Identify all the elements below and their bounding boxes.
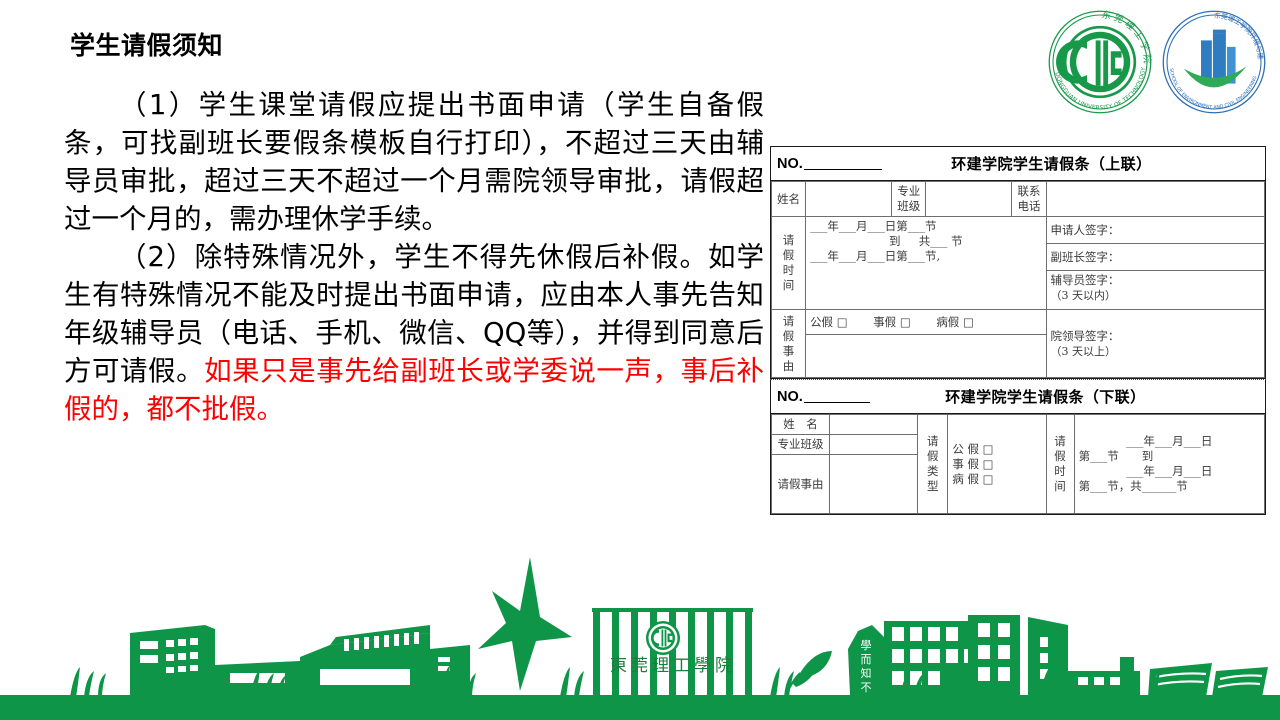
- table-row-leave-reason: 请假事由 公假 □ 事假 □ 病假 □ 院领导签字： （3 天以上）: [772, 310, 1265, 335]
- stone-text-4: 不: [861, 681, 872, 694]
- slip-lower: NO. 环建学院学生请假条（下联） 姓 名 请假类型 公 假 □ 事 假 □: [770, 380, 1266, 515]
- slip-upper-no-blank[interactable]: [804, 157, 882, 170]
- cell-signature-counselor[interactable]: 辅导员签字： （3 天以内）: [1046, 271, 1264, 310]
- cell-lower-type-checkboxes[interactable]: 公 假 □ 事 假 □ 病 假 □: [948, 415, 1046, 514]
- cell-lower-time-fields[interactable]: ___年___月___日 第___节 到 ___年___月___日 第___节，…: [1074, 415, 1264, 514]
- signature-counselor-note: （3 天以内）: [1051, 288, 1260, 303]
- cell-name-label: 姓名: [772, 182, 806, 217]
- notice-paragraph-1: （1）学生课堂请假应提出书面申请（学生自备假条，可找副班长要假条模板自行打印），…: [64, 86, 764, 238]
- leave-time-total: 共___ 节: [919, 234, 963, 248]
- cell-phone-value[interactable]: [1046, 182, 1264, 217]
- slip-upper-no-label: NO.: [777, 156, 803, 172]
- table-row-leave-time: 请假时间 ___年___月___日第___节 到 共___ 节 ___年___月…: [772, 217, 1265, 244]
- cell-leave-reason-content[interactable]: [806, 335, 1046, 378]
- leave-time-line-1: ___年___月___日第___节: [810, 219, 1041, 234]
- lower-time-line-4: 第___节，共______节: [1079, 479, 1260, 494]
- leave-time-line-2: 到 共___ 节: [810, 234, 1041, 249]
- campus-gate: [592, 608, 753, 697]
- logo-group: 东 莞 理 工 学 院 DONGGUAN UNIVERSITY OF TECHN…: [1046, 8, 1268, 116]
- stone-text-3: 知: [861, 666, 872, 680]
- notice-paragraph-2: （2）除特殊情况外，学生不得先休假后补假。如学生有特殊情况不能及时提出书面申请，…: [64, 238, 764, 428]
- lower-leave-type-sick[interactable]: 病 假 □: [952, 472, 1041, 487]
- cell-lower-name-label: 姓 名: [772, 415, 830, 435]
- slip-lower-no-blank[interactable]: [804, 390, 870, 403]
- table-row-lower-name: 姓 名 请假类型 公 假 □ 事 假 □ 病 假 □ 请假时间 ___年___月: [772, 415, 1265, 435]
- lower-leave-type-personal[interactable]: 事 假 □: [952, 457, 1041, 472]
- building-dorm-2: [968, 615, 1020, 697]
- cell-phone-label: 联系电话: [1012, 182, 1046, 217]
- cell-name-value[interactable]: [806, 182, 892, 217]
- lower-time-line-2: 第___节 到: [1079, 449, 1260, 464]
- leave-type-public[interactable]: 公假 □: [810, 315, 848, 329]
- college-logo: 东莞理工学院环境与建筑工程学院 SCHOOL OF ENVIRONMENT AN…: [1160, 8, 1268, 116]
- cell-signature-applicant[interactable]: 申请人签字：: [1046, 217, 1264, 244]
- gate-emblem: [646, 621, 680, 655]
- signature-dean-label: 院领导签字：: [1051, 329, 1260, 344]
- cell-signature-dean[interactable]: 院领导签字： （3 天以上）: [1046, 310, 1264, 378]
- cell-signature-vice-monitor[interactable]: 副班长签字：: [1046, 244, 1264, 271]
- cell-lower-type-label: 请假类型: [918, 415, 948, 514]
- signature-vice-monitor-label: 副班长签字：: [1051, 250, 1120, 264]
- leave-time-to: 到: [889, 234, 901, 248]
- campus-illustration: 東莞理工學院 學 而 知 不: [0, 545, 1280, 720]
- building-roof-right-2: [1212, 667, 1268, 697]
- slip-upper-header: NO. 环建学院学生请假条（上联）: [771, 147, 1265, 181]
- lower-time-line-3: ___年___月___日: [1079, 464, 1260, 479]
- slide: 东 莞 理 工 学 院 DONGGUAN UNIVERSITY OF TECHN…: [0, 0, 1280, 720]
- cell-lower-reason-label: 请假事由: [772, 455, 830, 514]
- leave-type-sick[interactable]: 病假 □: [936, 315, 974, 329]
- signature-counselor-label: 辅导员签字：: [1051, 273, 1260, 288]
- slip-lower-title: 环建学院学生请假条（下联）: [870, 386, 1221, 407]
- slip-upper-table: 姓名 专业班级 联系电话 请假时间 ___年___月___日第___节 到 共_…: [771, 181, 1265, 378]
- cell-class-value[interactable]: [926, 182, 1012, 217]
- cell-lower-reason-value[interactable]: [830, 455, 918, 514]
- grass-band: [0, 695, 1280, 720]
- table-row-identity: 姓名 专业班级 联系电话: [772, 182, 1265, 217]
- cell-lower-class-label: 专业班级: [772, 435, 830, 455]
- signature-dean-note: （3 天以上）: [1051, 344, 1260, 359]
- slip-lower-table: 姓 名 请假类型 公 假 □ 事 假 □ 病 假 □ 请假时间 ___年___月: [771, 414, 1265, 514]
- gate-name-text: 東莞理工學院: [610, 656, 736, 676]
- slip-lower-no-label: NO.: [777, 389, 803, 405]
- star-sculpture: [478, 557, 572, 691]
- leave-type-personal[interactable]: 事假 □: [873, 315, 911, 329]
- cell-class-label: 专业班级: [892, 182, 926, 217]
- slip-lower-header: NO. 环建学院学生请假条（下联）: [771, 380, 1265, 414]
- cell-lower-name-value[interactable]: [830, 415, 918, 435]
- leave-slip-form: NO. 环建学院学生请假条（上联） 姓名 专业班级 联系电话: [770, 146, 1266, 515]
- cell-leave-time-label: 请假时间: [772, 217, 806, 310]
- stone-text: 學: [861, 639, 872, 652]
- notice-body: （1）学生课堂请假应提出书面申请（学生自备假条，可找副班长要假条模板自行打印），…: [64, 86, 764, 428]
- leave-time-line-3: ___年___月___日第___节,: [810, 249, 1041, 264]
- building-chimney: [1120, 657, 1134, 673]
- signature-applicant-label: 申请人签字：: [1051, 223, 1120, 237]
- cell-lower-time-label: 请假时间: [1046, 415, 1074, 514]
- cell-leave-type-checkboxes[interactable]: 公假 □ 事假 □ 病假 □: [806, 310, 1046, 335]
- cell-lower-class-value[interactable]: [830, 435, 918, 455]
- slip-upper: NO. 环建学院学生请假条（上联） 姓名 专业班级 联系电话: [770, 146, 1266, 379]
- lower-leave-type-public[interactable]: 公 假 □: [952, 442, 1041, 457]
- stone-text-2: 而: [861, 653, 872, 666]
- page-title: 学生请假须知: [70, 26, 223, 62]
- cell-leave-time-fields[interactable]: ___年___月___日第___节 到 共___ 节 ___年___月___日第…: [806, 217, 1046, 310]
- cell-leave-reason-label: 请假事由: [772, 310, 806, 378]
- slip-upper-title: 环建学院学生请假条（上联）: [882, 153, 1221, 174]
- lower-time-line-1: ___年___月___日: [1079, 434, 1260, 449]
- dgut-logo: 东 莞 理 工 学 院 DONGGUAN UNIVERSITY OF TECHN…: [1046, 8, 1154, 116]
